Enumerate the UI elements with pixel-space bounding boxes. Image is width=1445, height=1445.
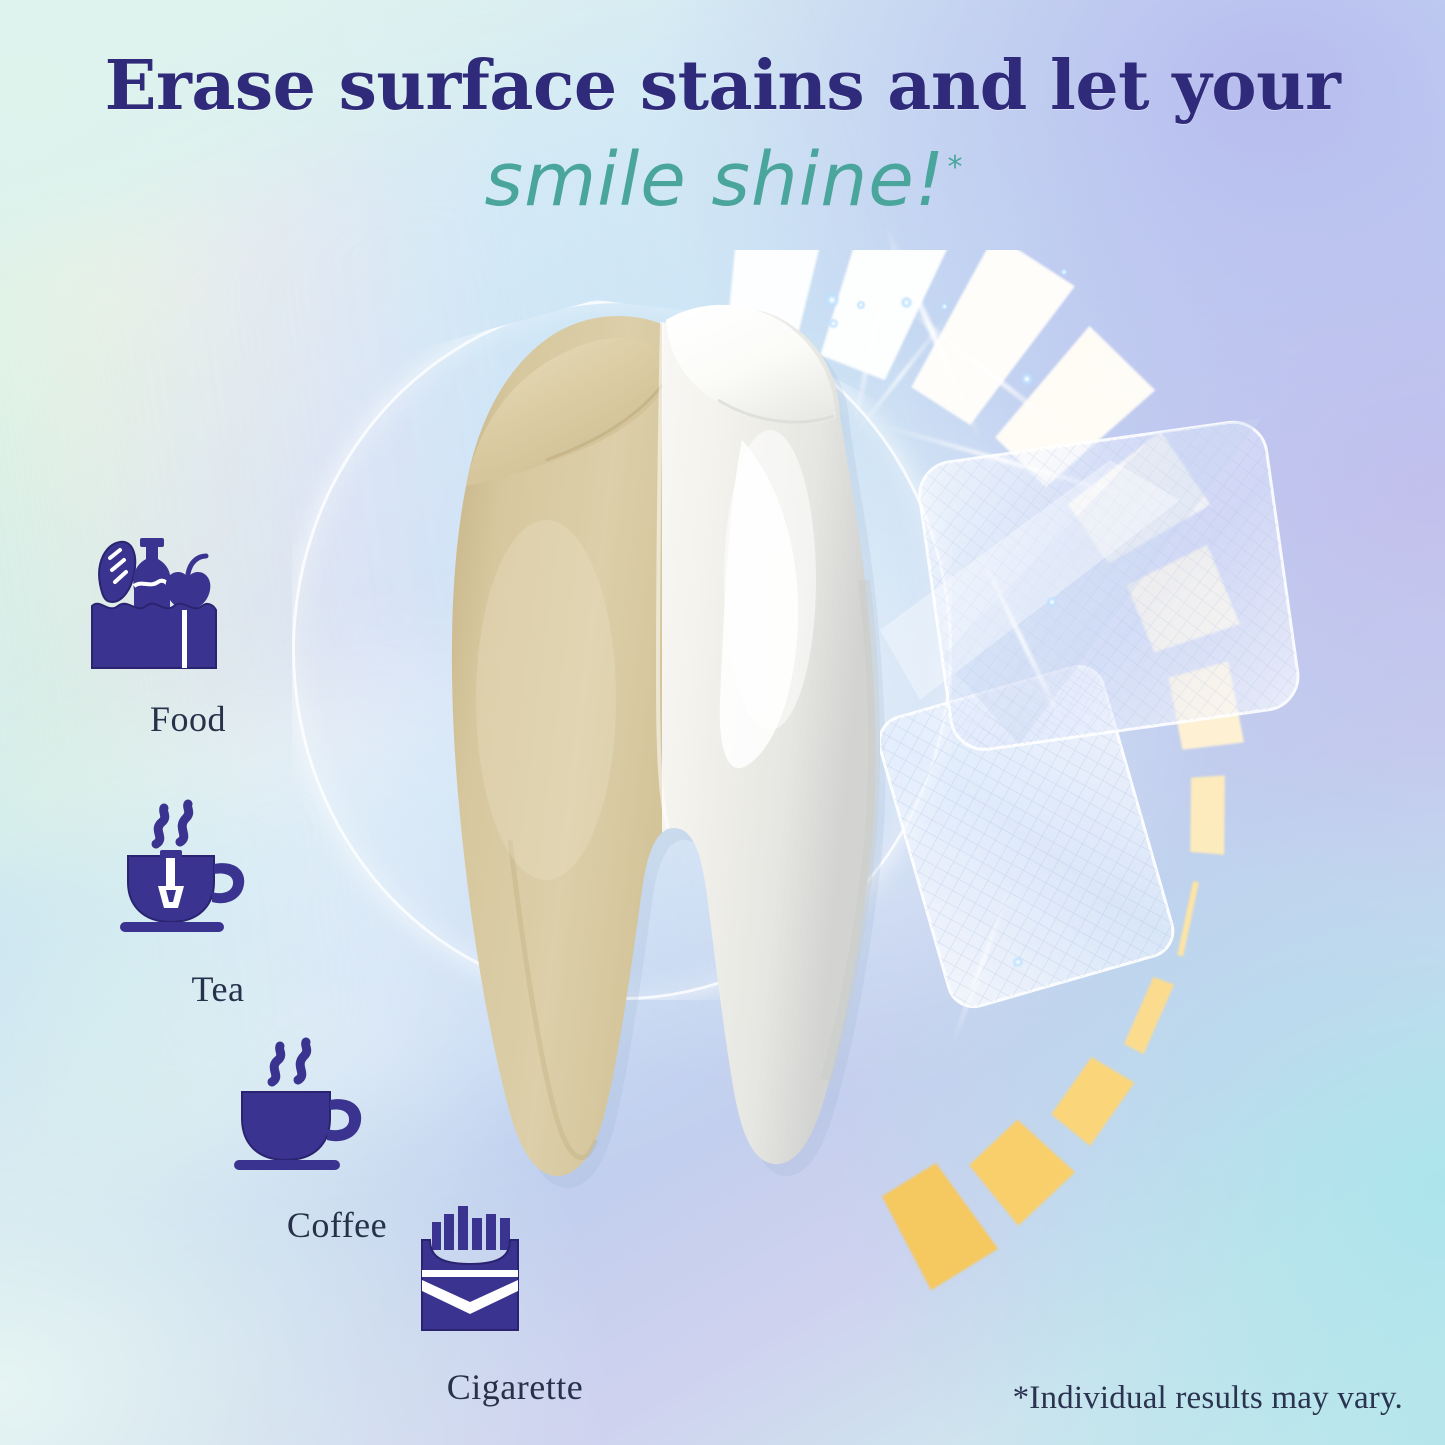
stain-source-cigarette: Cigarette — [400, 1196, 630, 1408]
headline-line-1: Erase surface stains and let your — [0, 50, 1445, 123]
headline-line-2: smile shine! — [485, 137, 946, 223]
stain-label-tea: Tea — [108, 968, 328, 1010]
coffee-cup-icon — [222, 1034, 452, 1184]
headline-block: Erase surface stains and let your smile … — [0, 50, 1445, 223]
stain-source-tea: Tea — [108, 798, 328, 1010]
stain-label-cigarette: Cigarette — [400, 1366, 630, 1408]
grocery-bag-icon — [78, 528, 298, 678]
stain-source-food: Food — [78, 528, 298, 740]
promo-image-canvas: Erase surface stains and let your smile … — [0, 0, 1445, 1445]
whitening-strip — [880, 380, 1380, 1100]
disclaimer-text: *Individual results may vary. — [1013, 1380, 1403, 1417]
headline-line-2-wrap: smile shine!* — [0, 137, 1445, 223]
headline-asterisk: * — [947, 150, 962, 185]
cigarette-pack-icon — [400, 1196, 630, 1346]
teacup-with-teabag-icon — [108, 798, 328, 948]
stain-label-food: Food — [78, 698, 298, 740]
